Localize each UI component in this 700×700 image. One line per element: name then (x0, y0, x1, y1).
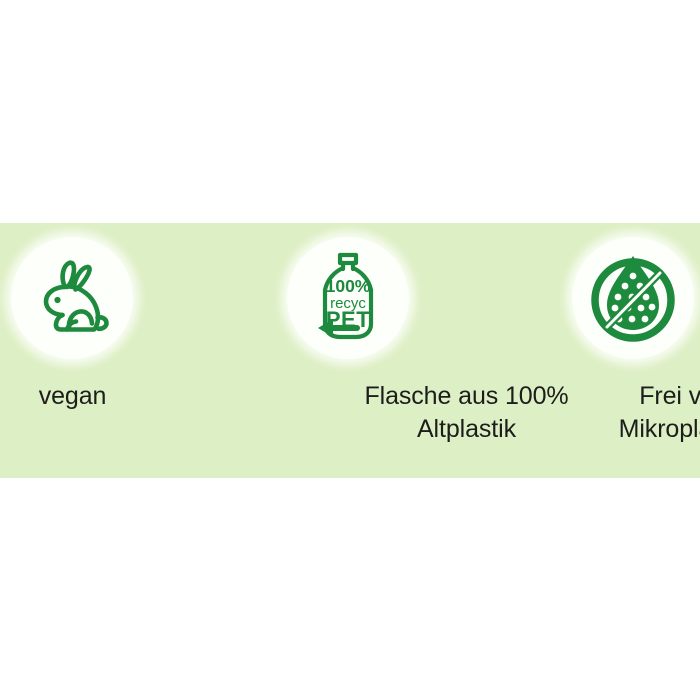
bottle-text-100: 100% (326, 276, 371, 296)
recycled-pet-bottle-icon: 100% recyc PET (302, 250, 394, 346)
badge-label: vegan (0, 380, 145, 413)
badge-recycled-bottle[interactable]: 100% recyc PET Flasche aus 100% Altplast… (233, 223, 467, 478)
rabbit-icon (24, 258, 120, 338)
bottle-text-pet: PET (326, 307, 370, 332)
badge-no-microplastic[interactable]: Frei von Mikroplastik (467, 223, 700, 478)
eco-badge-strip: vegan 100% recyc PET (0, 223, 700, 478)
badge-icon-disc: 100% recyc PET (287, 237, 409, 359)
no-microplastic-droplet-icon (585, 250, 681, 346)
badge-vegan[interactable]: vegan (0, 223, 233, 478)
rabbit-eye (54, 297, 60, 303)
badge-icon-disc (572, 237, 694, 359)
badge-label: Frei von Mikroplastik (519, 380, 700, 447)
badge-icon-disc (11, 237, 133, 359)
